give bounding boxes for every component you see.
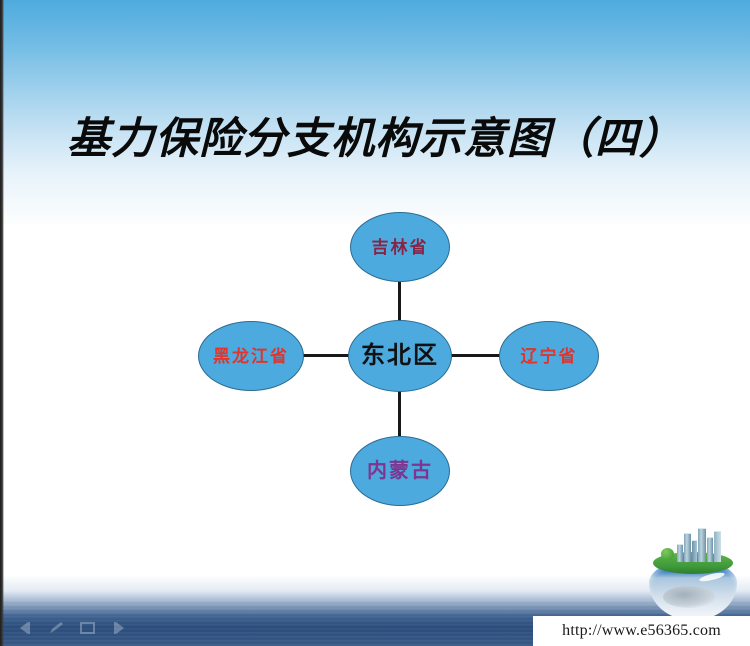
node-liaoning[interactable]: 辽宁省 bbox=[499, 321, 599, 391]
connector-center-to-top bbox=[398, 278, 401, 324]
node-inner-mongolia[interactable]: 内蒙古 bbox=[350, 436, 450, 506]
node-jilin[interactable]: 吉林省 bbox=[350, 212, 450, 282]
watermark-url-text: http://www.e56365.com bbox=[562, 622, 721, 640]
next-slide-icon[interactable] bbox=[109, 620, 128, 636]
tree-icon bbox=[661, 548, 674, 560]
presentation-slide: 基力保险分支机构示意图（四） 吉林省 黑龙江省 东北区 辽宁省 内蒙古 bbox=[0, 0, 750, 646]
connector-center-to-right bbox=[448, 354, 502, 357]
org-chart-diagram: 吉林省 黑龙江省 东北区 辽宁省 内蒙古 bbox=[0, 0, 750, 646]
slideshow-navigation-bar[interactable] bbox=[16, 620, 128, 636]
node-dongbei-region-label: 东北区 bbox=[361, 344, 439, 368]
city-skyline-icon bbox=[677, 528, 723, 562]
node-liaoning-label: 辽宁省 bbox=[521, 348, 578, 365]
slide-menu-icon[interactable] bbox=[78, 620, 97, 636]
previous-slide-icon[interactable] bbox=[16, 620, 35, 636]
node-heilongjiang-label: 黑龙江省 bbox=[213, 348, 289, 365]
node-inner-mongolia-label: 内蒙古 bbox=[367, 461, 433, 481]
watermark-url-box[interactable]: http://www.e56365.com bbox=[533, 616, 750, 646]
globe-city-logo bbox=[643, 528, 743, 620]
connector-center-to-bottom bbox=[398, 388, 401, 440]
node-dongbei-region[interactable]: 东北区 bbox=[348, 320, 452, 392]
connector-center-to-left bbox=[300, 354, 352, 357]
node-jilin-label: 吉林省 bbox=[372, 239, 429, 256]
pen-icon[interactable] bbox=[47, 620, 66, 636]
node-heilongjiang[interactable]: 黑龙江省 bbox=[198, 321, 304, 391]
